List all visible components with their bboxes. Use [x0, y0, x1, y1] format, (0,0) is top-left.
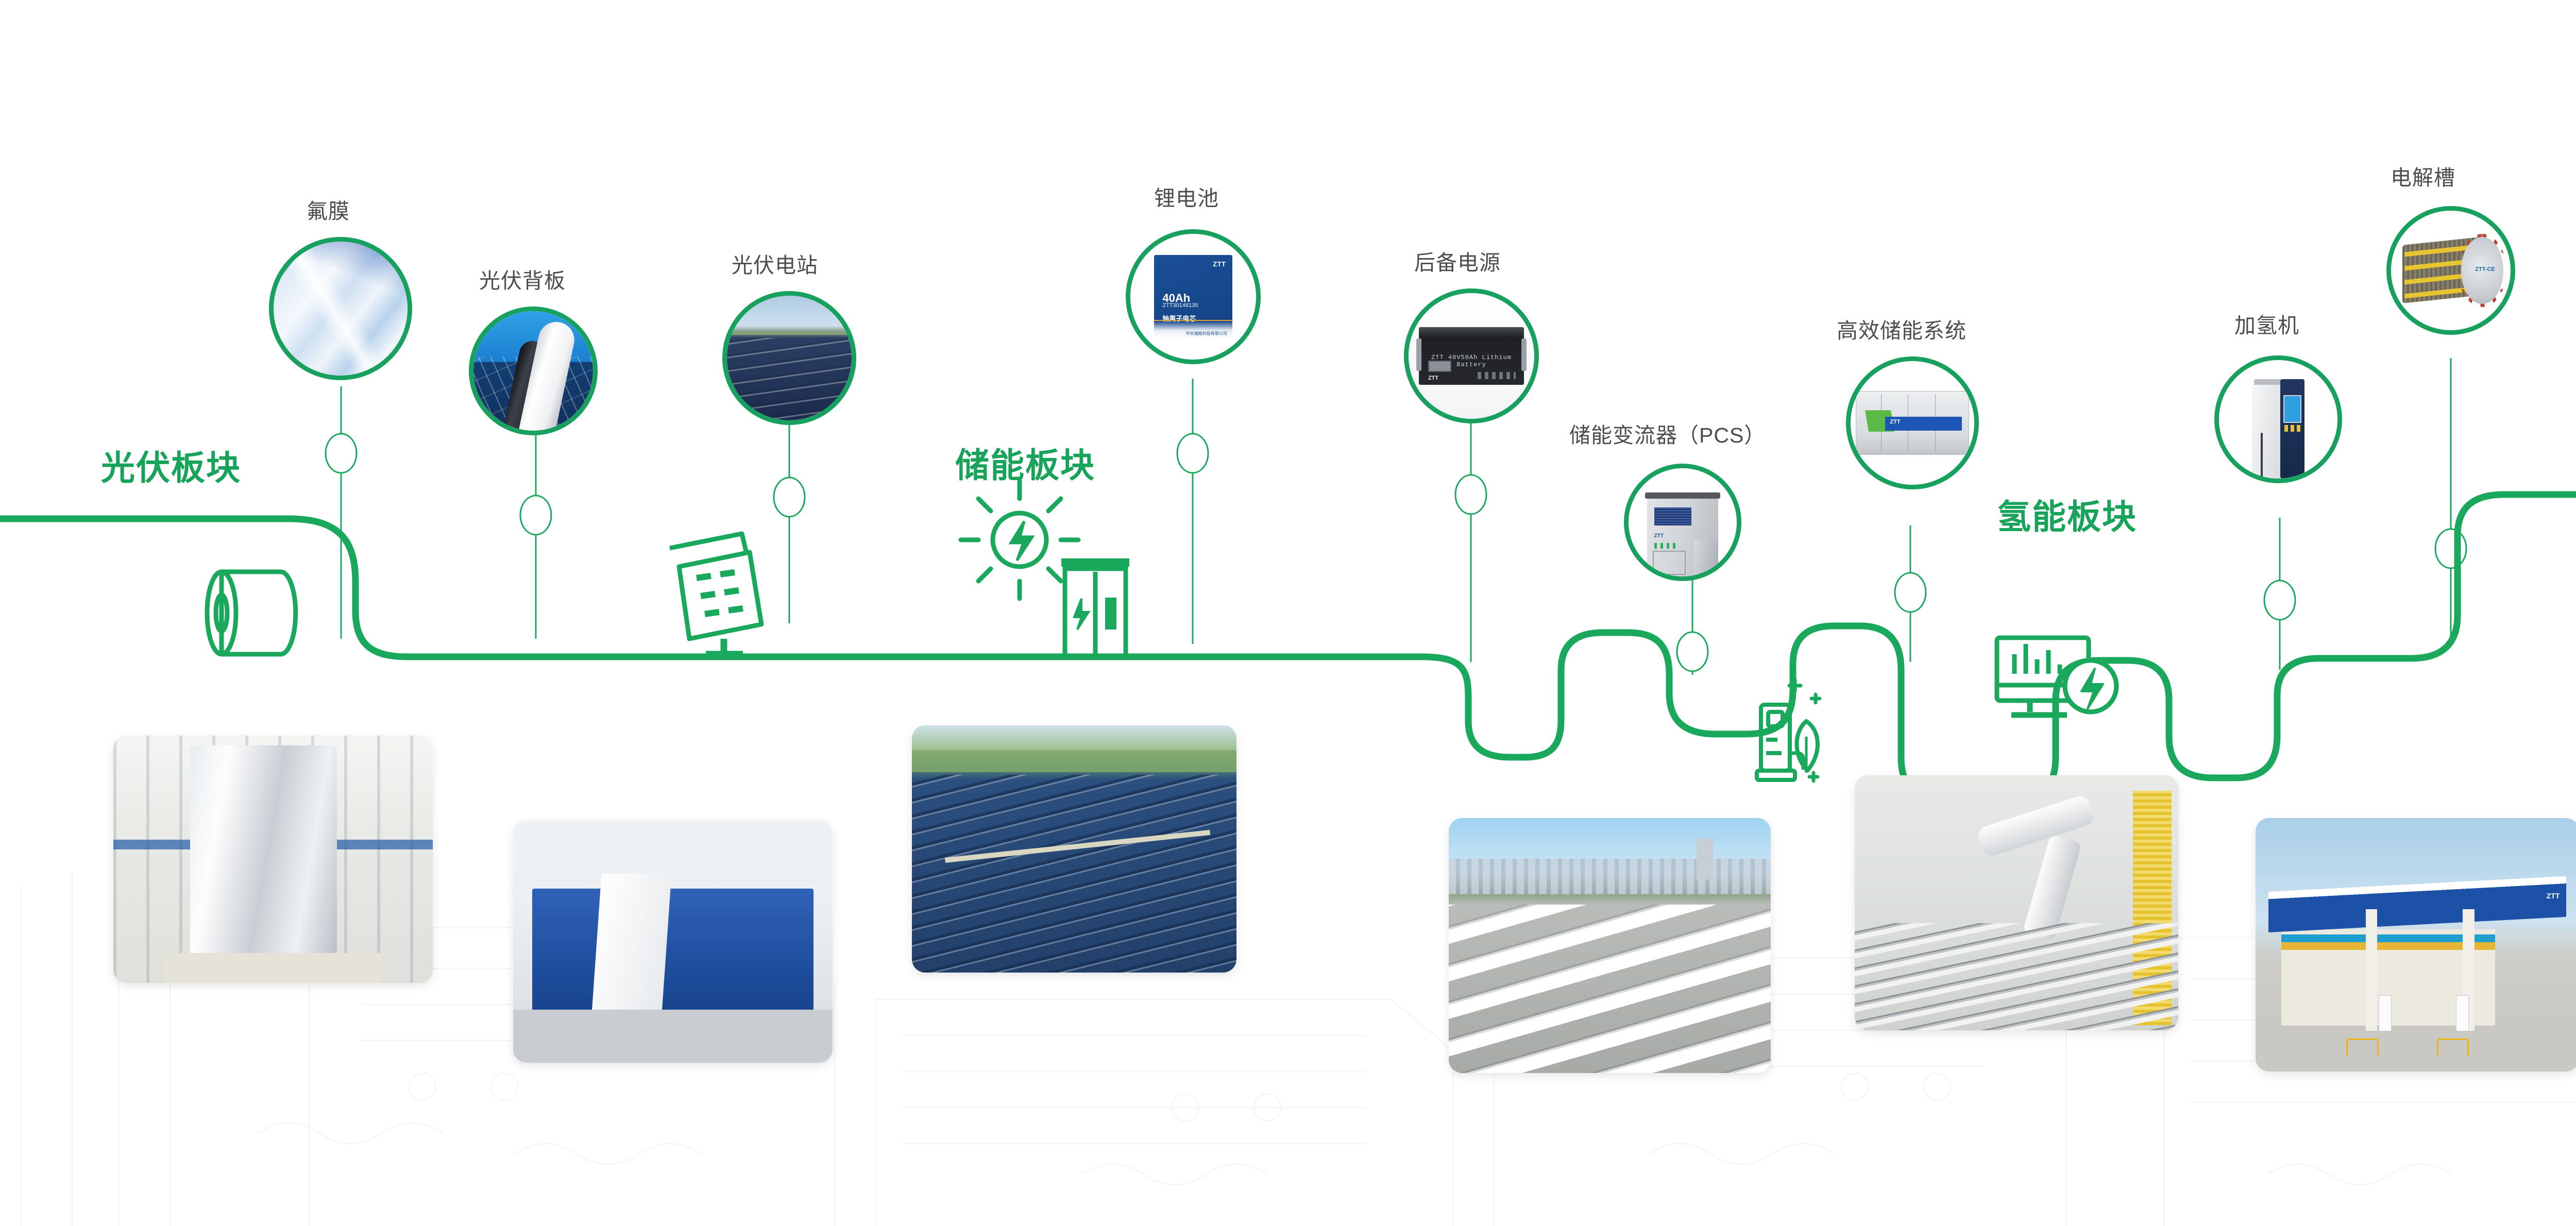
node-pcs[interactable]: ZTT: [1624, 464, 1741, 581]
solar-panel-icon: [670, 534, 761, 654]
node-label-lithium-battery: 锂电池: [1154, 188, 1219, 209]
bess-containers-image: [1449, 818, 1771, 1073]
photo-card-hydrogen-station[interactable]: ZTT: [2256, 818, 2576, 1071]
node-electrolyzer[interactable]: ZTT-CE: [2386, 206, 2515, 335]
solar-farm-aerial-image: [912, 725, 1236, 973]
hydrogen-station-image: ZTT: [2256, 818, 2576, 1071]
sector-title-pv: 光伏板块: [101, 440, 241, 490]
sector-title-storage: 储能板块: [955, 438, 1095, 487]
photo-card-reactor-vessel[interactable]: [113, 736, 433, 983]
node-label-pcs: 储能变流器（PCS）: [1569, 425, 1766, 446]
licell-model: ZTT30148135: [1162, 302, 1198, 309]
node-h2-dispenser[interactable]: [2214, 355, 2342, 483]
photo-card-solar-farm-aerial[interactable]: [912, 725, 1236, 973]
energy-flow-diagram: [0, 0, 2576, 1226]
node-fluorine-film[interactable]: [269, 237, 412, 380]
pcs-brand: ZTT: [1654, 533, 1664, 539]
lithium-battery-photo: ZTT 40Ah ZTT30148135 钠离子电芯 中天储能科技有限公司: [1130, 234, 1256, 360]
photo-card-bess-containers[interactable]: [1449, 818, 1771, 1073]
node-pv-power-station[interactable]: [722, 291, 856, 425]
licell-brand: ZTT: [1213, 260, 1226, 268]
licell-company: 中天储能科技有限公司: [1186, 331, 1227, 336]
node-lithium-battery[interactable]: ZTT 40Ah ZTT30148135 钠离子电芯 中天储能科技有限公司: [1126, 229, 1261, 364]
node-pv-backsheet[interactable]: [469, 306, 598, 435]
ess-system-photo: ZTT: [1851, 361, 1974, 485]
sector-title-hydrogen: 氢能板块: [1997, 489, 2137, 539]
pcs-photo: ZTT: [1629, 468, 1737, 576]
photo-card-film-coating-line[interactable]: [513, 821, 833, 1063]
stem-pins: [326, 434, 2466, 671]
sun-energy-icon: [961, 481, 1078, 599]
battery-cabinet-icon: [1061, 563, 1129, 656]
node-label-pv-power-station: 光伏电站: [732, 255, 818, 276]
node-ess-system[interactable]: ZTT: [1846, 356, 1979, 489]
h2-dispenser-photo: [2219, 360, 2337, 479]
node-label-backup-power: 后备电源: [1414, 252, 1501, 274]
reactor-vessel-image: [113, 736, 433, 983]
pv-power-station-photo: [727, 296, 852, 420]
ess-brand: ZTT: [1890, 419, 1900, 425]
node-label-ess-system: 高效储能系统: [1837, 320, 1967, 342]
film-coating-line-image: [513, 821, 833, 1063]
photo-card-robot-assembly[interactable]: [1855, 775, 2178, 1030]
node-backup-power[interactable]: ZTT 48V50Ah Lithium Battery ZTT: [1404, 288, 1539, 423]
ups-logo: ZTT: [1428, 375, 1438, 381]
electrolyzer-label: ZTT-CE: [2475, 266, 2495, 273]
node-label-fluorine-film: 氟膜: [307, 201, 350, 222]
electrolyzer-photo: ZTT-CE: [2391, 211, 2511, 330]
pv-backsheet-photo: [473, 311, 593, 431]
backup-power-photo: ZTT 48V50Ah Lithium Battery ZTT: [1409, 293, 1534, 419]
hstation-brand: ZTT: [2547, 892, 2560, 900]
fluorine-film-photo: [274, 242, 408, 376]
infographic-canvas: 光伏板块 储能板块 氢能板块 氟膜 光伏背板 光伏电站 锂电池: [0, 0, 2576, 1226]
paper-roll-icon: [207, 572, 296, 654]
node-label-h2-dispenser: 加氢机: [2234, 315, 2299, 336]
node-label-electrolyzer: 电解槽: [2391, 167, 2455, 189]
node-label-pv-backsheet: 光伏背板: [479, 270, 566, 292]
robot-assembly-image: [1855, 775, 2178, 1030]
